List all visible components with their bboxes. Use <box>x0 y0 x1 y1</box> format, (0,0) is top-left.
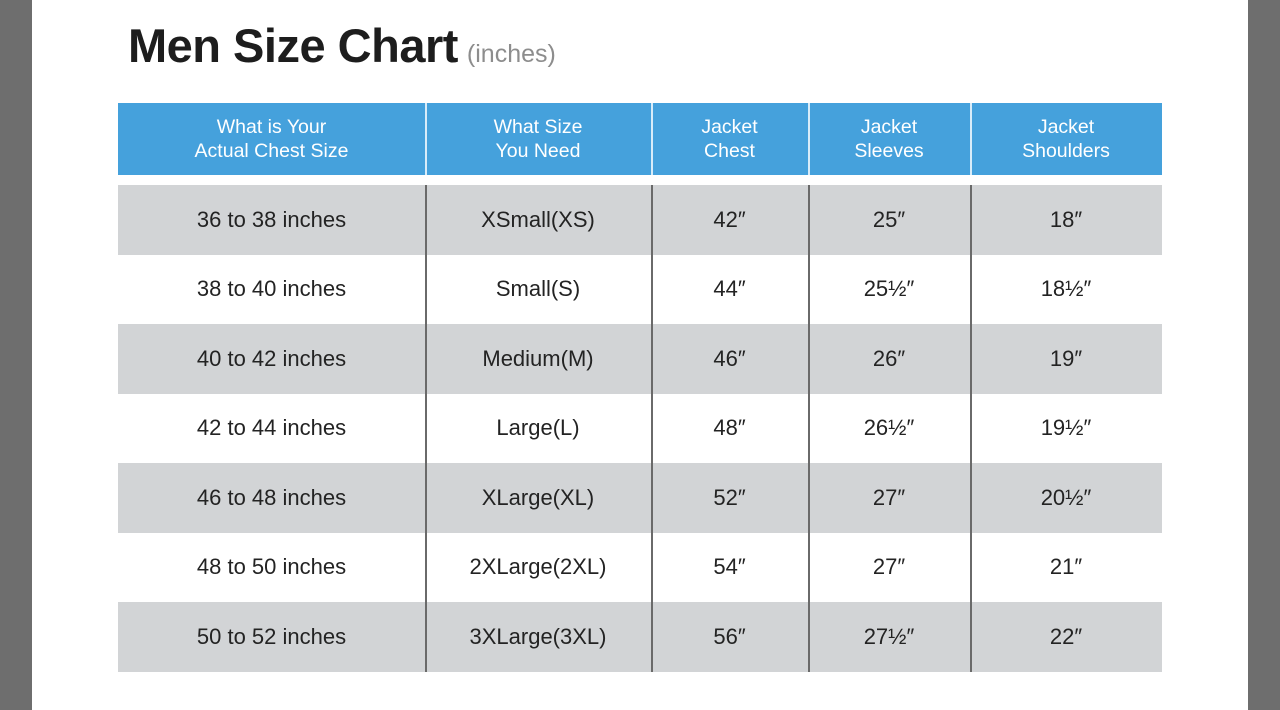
cell-jacket-shoulders: 19½″ <box>970 394 1162 464</box>
page-title-main: Men Size Chart <box>128 18 458 73</box>
cell-size-you-need: XLarge(XL) <box>425 463 651 533</box>
size-chart-page: Men Size Chart (inches) What is Your Act… <box>32 0 1248 710</box>
cell-actual-chest-size-text: 38 to 40 inches <box>197 276 346 302</box>
cell-size-you-need-text: XLarge(XL) <box>482 485 595 511</box>
column-header-line2: Chest <box>704 139 755 163</box>
cell-jacket-shoulders-text: 19″ <box>1050 346 1082 372</box>
cell-size-you-need: Large(L) <box>425 394 651 464</box>
letterbox-bar-left <box>0 0 32 710</box>
cell-actual-chest-size-text: 46 to 48 inches <box>197 485 346 511</box>
column-header-line2: You Need <box>496 139 581 163</box>
cell-jacket-chest-text: 42″ <box>713 207 745 233</box>
cell-jacket-shoulders: 18½″ <box>970 255 1162 325</box>
column-header-jacket-shoulders: Jacket Shoulders <box>970 103 1162 175</box>
page-title-unit: (inches) <box>467 40 556 69</box>
cell-jacket-chest-text: 46″ <box>713 346 745 372</box>
cell-jacket-sleeves-text: 27″ <box>873 554 905 580</box>
cell-actual-chest-size: 36 to 38 inches <box>118 185 425 255</box>
cell-jacket-shoulders-text: 22″ <box>1050 624 1082 650</box>
column-header-line1: What Size <box>494 115 583 139</box>
cell-jacket-sleeves: 27″ <box>808 463 970 533</box>
cell-jacket-chest: 54″ <box>651 533 808 603</box>
cell-size-you-need-text: Large(L) <box>496 415 579 441</box>
cell-jacket-shoulders: 18″ <box>970 185 1162 255</box>
cell-actual-chest-size: 40 to 42 inches <box>118 324 425 394</box>
cell-size-you-need-text: 3XLarge(3XL) <box>470 624 607 650</box>
cell-jacket-sleeves-text: 25½″ <box>864 276 915 302</box>
cell-size-you-need: XSmall(XS) <box>425 185 651 255</box>
cell-jacket-chest-text: 52″ <box>713 485 745 511</box>
cell-jacket-sleeves: 25½″ <box>808 255 970 325</box>
table-row: 40 to 42 inchesMedium(M)46″26″19″ <box>118 324 1162 394</box>
cell-actual-chest-size: 50 to 52 inches <box>118 602 425 672</box>
column-header-line2: Actual Chest Size <box>195 139 349 163</box>
cell-jacket-sleeves: 27″ <box>808 533 970 603</box>
page-title: Men Size Chart (inches) <box>128 18 556 73</box>
cell-actual-chest-size: 48 to 50 inches <box>118 533 425 603</box>
cell-jacket-sleeves-text: 25″ <box>873 207 905 233</box>
column-header-line1: Jacket <box>701 115 757 139</box>
column-header-jacket-chest: Jacket Chest <box>651 103 808 175</box>
cell-jacket-sleeves-text: 26″ <box>873 346 905 372</box>
cell-jacket-chest: 56″ <box>651 602 808 672</box>
cell-actual-chest-size-text: 42 to 44 inches <box>197 415 346 441</box>
cell-jacket-shoulders: 21″ <box>970 533 1162 603</box>
cell-size-you-need: 3XLarge(3XL) <box>425 602 651 672</box>
cell-jacket-shoulders-text: 20½″ <box>1041 485 1092 511</box>
cell-jacket-chest-text: 54″ <box>713 554 745 580</box>
table-row: 36 to 38 inchesXSmall(XS)42″25″18″ <box>118 185 1162 255</box>
cell-jacket-shoulders-text: 18½″ <box>1041 276 1092 302</box>
cell-jacket-chest-text: 44″ <box>713 276 745 302</box>
column-header-line2: Sleeves <box>854 139 923 163</box>
cell-size-you-need: Small(S) <box>425 255 651 325</box>
cell-jacket-shoulders: 22″ <box>970 602 1162 672</box>
cell-size-you-need-text: 2XLarge(2XL) <box>470 554 607 580</box>
column-header-size-you-need: What Size You Need <box>425 103 651 175</box>
cell-jacket-sleeves: 25″ <box>808 185 970 255</box>
cell-jacket-chest-text: 56″ <box>713 624 745 650</box>
column-header-jacket-sleeves: Jacket Sleeves <box>808 103 970 175</box>
cell-actual-chest-size: 42 to 44 inches <box>118 394 425 464</box>
cell-jacket-chest: 42″ <box>651 185 808 255</box>
table-row: 50 to 52 inches3XLarge(3XL)56″27½″22″ <box>118 602 1162 672</box>
table-row: 48 to 50 inches2XLarge(2XL)54″27″21″ <box>118 533 1162 603</box>
cell-jacket-sleeves: 27½″ <box>808 602 970 672</box>
cell-size-you-need-text: Medium(M) <box>482 346 593 372</box>
cell-actual-chest-size: 38 to 40 inches <box>118 255 425 325</box>
cell-actual-chest-size-text: 36 to 38 inches <box>197 207 346 233</box>
column-header-line1: Jacket <box>1038 115 1094 139</box>
screenshot-root: Men Size Chart (inches) What is Your Act… <box>0 0 1280 710</box>
cell-actual-chest-size-text: 48 to 50 inches <box>197 554 346 580</box>
cell-jacket-chest-text: 48″ <box>713 415 745 441</box>
cell-jacket-chest: 44″ <box>651 255 808 325</box>
cell-size-you-need-text: Small(S) <box>496 276 580 302</box>
cell-size-you-need: 2XLarge(2XL) <box>425 533 651 603</box>
cell-jacket-sleeves: 26″ <box>808 324 970 394</box>
cell-jacket-chest: 52″ <box>651 463 808 533</box>
cell-size-you-need: Medium(M) <box>425 324 651 394</box>
cell-jacket-chest: 46″ <box>651 324 808 394</box>
column-header-line1: Jacket <box>861 115 917 139</box>
cell-jacket-sleeves-text: 26½″ <box>864 415 915 441</box>
cell-actual-chest-size-text: 40 to 42 inches <box>197 346 346 372</box>
cell-actual-chest-size-text: 50 to 52 inches <box>197 624 346 650</box>
cell-jacket-shoulders-text: 18″ <box>1050 207 1082 233</box>
cell-jacket-sleeves: 26½″ <box>808 394 970 464</box>
cell-size-you-need-text: XSmall(XS) <box>481 207 595 233</box>
cell-jacket-sleeves-text: 27½″ <box>864 624 915 650</box>
table-row: 38 to 40 inchesSmall(S)44″25½″18½″ <box>118 255 1162 325</box>
letterbox-bar-right <box>1248 0 1280 710</box>
cell-jacket-shoulders: 19″ <box>970 324 1162 394</box>
column-header-actual-chest-size: What is Your Actual Chest Size <box>118 103 425 175</box>
cell-actual-chest-size: 46 to 48 inches <box>118 463 425 533</box>
table-row: 46 to 48 inchesXLarge(XL)52″27″20½″ <box>118 463 1162 533</box>
column-header-line1: What is Your <box>217 115 326 139</box>
cell-jacket-chest: 48″ <box>651 394 808 464</box>
cell-jacket-sleeves-text: 27″ <box>873 485 905 511</box>
cell-jacket-shoulders: 20½″ <box>970 463 1162 533</box>
column-header-line2: Shoulders <box>1022 139 1110 163</box>
size-chart-table: What is Your Actual Chest Size What Size… <box>118 103 1162 672</box>
table-body: 36 to 38 inchesXSmall(XS)42″25″18″38 to … <box>118 185 1162 672</box>
table-row: 42 to 44 inchesLarge(L)48″26½″19½″ <box>118 394 1162 464</box>
header-body-gap <box>118 175 1162 185</box>
cell-jacket-shoulders-text: 19½″ <box>1041 415 1092 441</box>
cell-jacket-shoulders-text: 21″ <box>1050 554 1082 580</box>
table-header-row: What is Your Actual Chest Size What Size… <box>118 103 1162 175</box>
